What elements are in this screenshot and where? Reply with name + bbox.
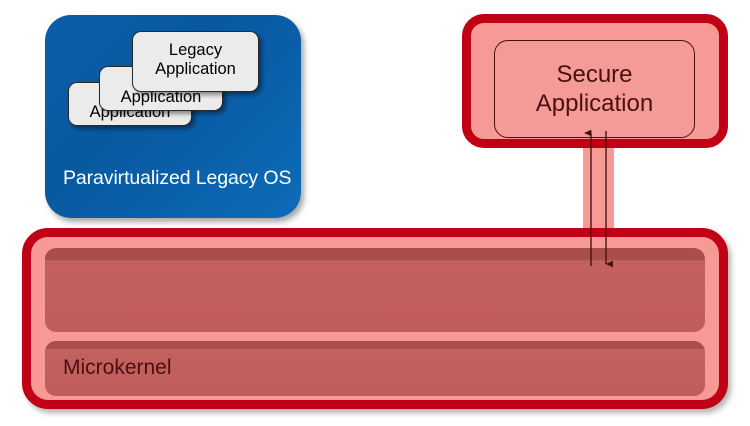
legacy-application-label-front: Legacy Application [133, 32, 258, 79]
microkernel-label: Microkernel [63, 355, 172, 380]
legacy-application-box-front: Legacy Application [132, 31, 259, 92]
microkernel-band: Microkernel [45, 341, 705, 396]
secure-application-container: Secure Application [462, 14, 728, 148]
architecture-diagram: Paravirtualized Legacy OS Legacy Applica… [0, 0, 750, 426]
legacy-os-label: Paravirtualized Legacy OS [63, 167, 293, 190]
trusted-services-band [45, 248, 705, 332]
secure-application-label: Secure Application [494, 40, 695, 138]
trusted-computing-base-container: Microkernel [22, 228, 728, 409]
